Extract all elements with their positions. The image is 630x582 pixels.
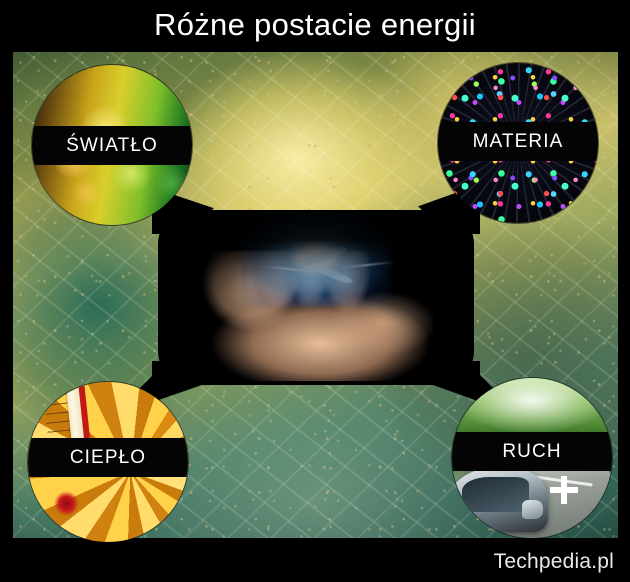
node-light[interactable]: ŚWIATŁO <box>32 65 192 225</box>
car-windshield <box>462 477 529 512</box>
infographic-canvas: Różne postacie energii ŚWIATŁO <box>0 0 630 582</box>
center-hub[interactable] <box>158 210 474 385</box>
page-title: Różne postacie energii <box>0 0 630 50</box>
node-matter[interactable]: MATERIA <box>438 63 598 223</box>
node-matter-label: MATERIA <box>473 131 564 153</box>
node-light-label: ŚWIATŁO <box>66 135 158 157</box>
node-heat[interactable]: CIEPŁO <box>28 382 188 542</box>
node-matter-band: MATERIA <box>438 122 598 161</box>
hand-shadow-overlay <box>162 214 470 381</box>
node-heat-label: CIEPŁO <box>70 447 146 469</box>
node-motion-label: RUCH <box>502 441 561 463</box>
node-motion-band: RUCH <box>452 432 612 471</box>
plus-icon <box>550 476 578 504</box>
node-heat-band: CIEPŁO <box>28 438 188 477</box>
node-light-band: ŚWIATŁO <box>32 126 192 165</box>
node-motion[interactable]: RUCH <box>452 378 612 538</box>
car-side-mirror <box>522 500 543 519</box>
energy-in-hand-image <box>162 214 470 381</box>
watermark: Techpedia.pl <box>494 550 614 574</box>
